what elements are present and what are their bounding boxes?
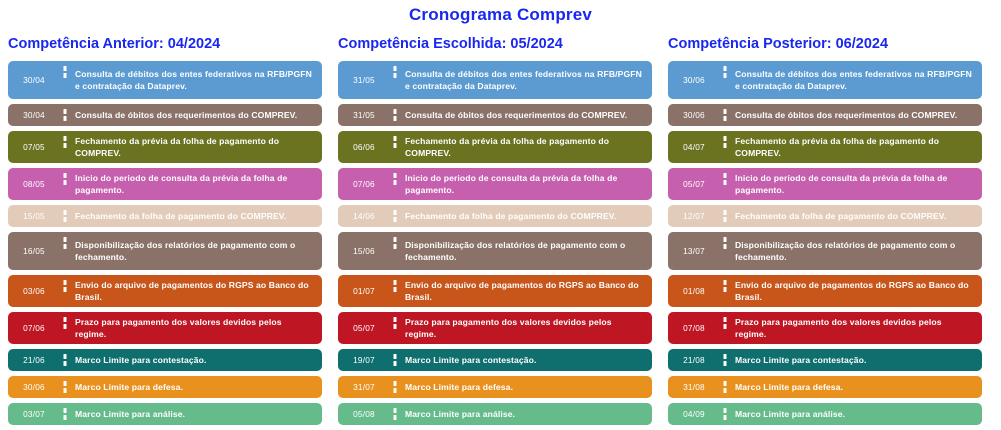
event-marker-icon (390, 131, 399, 163)
event-marker-icon (390, 205, 399, 227)
timeline-event-row[interactable]: 16/05Disponibilização dos relatórios de … (8, 232, 322, 270)
event-marker-icon (390, 61, 399, 99)
event-date: 12/07 (668, 205, 720, 227)
event-marker-icon (390, 232, 399, 270)
timeline-event-row[interactable]: 30/06Consulta de óbitos dos requerimento… (668, 104, 982, 126)
event-date: 31/05 (338, 61, 390, 99)
event-date: 30/04 (8, 61, 60, 99)
event-marker-icon (60, 61, 69, 99)
event-marker-icon (60, 168, 69, 200)
event-date: 04/07 (668, 131, 720, 163)
event-date: 08/05 (8, 168, 60, 200)
event-marker-icon (60, 312, 69, 344)
timeline-event-row[interactable]: 05/08Marco Limite para análise. (338, 403, 652, 425)
event-date: 07/08 (668, 312, 720, 344)
event-marker-icon (720, 232, 729, 270)
timeline-event-row[interactable]: 30/04Consulta de óbitos dos requerimento… (8, 104, 322, 126)
timeline-list-posterior: 30/06Consulta de débitos dos entes feder… (668, 61, 982, 430)
event-date: 05/08 (338, 403, 390, 425)
event-description: Marco Limite para defesa. (69, 376, 322, 398)
timeline-event-row[interactable]: 12/07Fechamento da folha de pagamento do… (668, 205, 982, 227)
event-description: Marco Limite para análise. (729, 403, 982, 425)
event-marker-icon (390, 349, 399, 371)
event-marker-icon (60, 131, 69, 163)
event-marker-icon (60, 232, 69, 270)
event-date: 07/06 (338, 168, 390, 200)
timeline-list-anterior: 30/04Consulta de débitos dos entes feder… (8, 61, 322, 430)
event-description: Marco Limite para contestação. (729, 349, 982, 371)
event-description: Fechamento da folha de pagamento do COMP… (399, 205, 652, 227)
event-marker-icon (720, 312, 729, 344)
event-description: Consulta de óbitos dos requerimentos do … (729, 104, 982, 126)
event-date: 14/06 (338, 205, 390, 227)
event-marker-icon (60, 275, 69, 307)
timeline-event-row[interactable]: 30/04Consulta de débitos dos entes feder… (8, 61, 322, 99)
event-date: 21/06 (8, 349, 60, 371)
event-date: 05/07 (668, 168, 720, 200)
event-marker-icon (720, 131, 729, 163)
event-date: 15/05 (8, 205, 60, 227)
timeline-event-row[interactable]: 07/08Prazo para pagamento dos valores de… (668, 312, 982, 344)
event-description: Prazo para pagamento dos valores devidos… (399, 312, 652, 344)
event-description: Consulta de débitos dos entes federativo… (399, 61, 652, 99)
event-description: Marco Limite para contestação. (399, 349, 652, 371)
timeline-event-row[interactable]: 03/06Envio do arquivo de pagamentos do R… (8, 275, 322, 307)
event-description: Envio do arquivo de pagamentos do RGPS a… (399, 275, 652, 307)
timeline-event-row[interactable]: 04/07Fechamento da prévia da folha de pa… (668, 131, 982, 163)
event-date: 30/06 (668, 104, 720, 126)
event-date: 03/07 (8, 403, 60, 425)
event-description: Fechamento da prévia da folha de pagamen… (399, 131, 652, 163)
timeline-event-row[interactable]: 06/06Fechamento da prévia da folha de pa… (338, 131, 652, 163)
event-date: 13/07 (668, 232, 720, 270)
timeline-column-escolhida: Competência Escolhida: 05/2024 31/05Cons… (338, 35, 652, 430)
event-description: Consulta de óbitos dos requerimentos do … (399, 104, 652, 126)
event-marker-icon (60, 104, 69, 126)
timeline-event-row[interactable]: 04/09Marco Limite para análise. (668, 403, 982, 425)
timeline-event-row[interactable]: 05/07Inicio do período de consulta da pr… (668, 168, 982, 200)
timeline-column-anterior: Competência Anterior: 04/2024 30/04Consu… (8, 35, 322, 430)
cronograma-page: Cronograma Comprev Competência Anterior:… (0, 0, 1001, 415)
event-description: Envio do arquivo de pagamentos do RGPS a… (69, 275, 322, 307)
event-date: 19/07 (338, 349, 390, 371)
event-description: Inicio do período de consulta da prévia … (729, 168, 982, 200)
event-date: 31/08 (668, 376, 720, 398)
event-description: Marco Limite para contestação. (69, 349, 322, 371)
timeline-event-row[interactable]: 21/06Marco Limite para contestação. (8, 349, 322, 371)
event-description: Inicio do periodo de consulta da prévia … (69, 168, 322, 200)
event-description: Marco Limite para defesa. (399, 376, 652, 398)
event-description: Marco Limite para análise. (69, 403, 322, 425)
timeline-event-row[interactable]: 30/06Marco Limite para defesa. (8, 376, 322, 398)
event-date: 15/06 (338, 232, 390, 270)
timeline-event-row[interactable]: 31/05Consulta de débitos dos entes feder… (338, 61, 652, 99)
timeline-event-row[interactable]: 31/05Consulta de óbitos dos requerimento… (338, 104, 652, 126)
timeline-event-row[interactable]: 14/06Fechamento da folha de pagamento do… (338, 205, 652, 227)
timeline-event-row[interactable]: 31/07Marco Limite para defesa. (338, 376, 652, 398)
event-marker-icon (390, 376, 399, 398)
event-date: 07/06 (8, 312, 60, 344)
event-description: Marco Limite para defesa. (729, 376, 982, 398)
event-marker-icon (720, 275, 729, 307)
timeline-event-row[interactable]: 03/07Marco Limite para análise. (8, 403, 322, 425)
event-marker-icon (60, 349, 69, 371)
event-date: 16/05 (8, 232, 60, 270)
event-marker-icon (390, 104, 399, 126)
timeline-event-row[interactable]: 08/05Inicio do periodo de consulta da pr… (8, 168, 322, 200)
event-marker-icon (720, 61, 729, 99)
event-description: Prazo para pagamento dos valores devidos… (69, 312, 322, 344)
event-marker-icon (720, 168, 729, 200)
timeline-list-escolhida: 31/05Consulta de débitos dos entes feder… (338, 61, 652, 430)
timeline-event-row[interactable]: 05/07Prazo para pagamento dos valores de… (338, 312, 652, 344)
timeline-event-row[interactable]: 13/07Disponibilização dos relatórios de … (668, 232, 982, 270)
event-date: 31/05 (338, 104, 390, 126)
event-date: 01/07 (338, 275, 390, 307)
event-marker-icon (390, 168, 399, 200)
event-date: 21/08 (668, 349, 720, 371)
event-description: Fechamento da folha de pagamento do COMP… (69, 205, 322, 227)
column-title-anterior: Competência Anterior: 04/2024 (8, 35, 322, 53)
timeline-event-row[interactable]: 07/06Prazo para pagamento dos valores de… (8, 312, 322, 344)
event-date: 03/06 (8, 275, 60, 307)
event-marker-icon (60, 403, 69, 425)
event-marker-icon (60, 205, 69, 227)
event-marker-icon (720, 349, 729, 371)
event-description: Inicio do periodo de consulta da prévia … (399, 168, 652, 200)
timeline-columns: Competência Anterior: 04/2024 30/04Consu… (0, 35, 1001, 430)
timeline-event-row[interactable]: 07/06Inicio do periodo de consulta da pr… (338, 168, 652, 200)
event-description: Marco Limite para análise. (399, 403, 652, 425)
event-description: Prazo para pagamento dos valores devidos… (729, 312, 982, 344)
timeline-event-row[interactable]: 01/08Envio do arquivo de pagamentos do R… (668, 275, 982, 307)
column-title-escolhida: Competência Escolhida: 05/2024 (338, 35, 652, 53)
event-marker-icon (720, 205, 729, 227)
event-description: Disponibilização dos relatórios de pagam… (729, 232, 982, 270)
event-marker-icon (720, 104, 729, 126)
event-description: Consulta de débitos dos entes federativo… (729, 61, 982, 99)
timeline-event-row[interactable]: 31/08Marco Limite para defesa. (668, 376, 982, 398)
event-date: 30/04 (8, 104, 60, 126)
event-description: Fechamento da prévia da folha de pagamen… (729, 131, 982, 163)
event-date: 06/06 (338, 131, 390, 163)
event-marker-icon (60, 376, 69, 398)
event-marker-icon (720, 376, 729, 398)
timeline-column-posterior: Competência Posterior: 06/2024 30/06Cons… (668, 35, 982, 430)
event-marker-icon (390, 275, 399, 307)
timeline-event-row[interactable]: 19/07Marco Limite para contestação. (338, 349, 652, 371)
event-description: Fechamento da folha de pagamento do COMP… (729, 205, 982, 227)
event-date: 31/07 (338, 376, 390, 398)
event-marker-icon (720, 403, 729, 425)
event-description: Disponibilização dos relatórios de pagam… (399, 232, 652, 270)
timeline-event-row[interactable]: 30/06Consulta de débitos dos entes feder… (668, 61, 982, 99)
event-description: Consulta de óbitos dos requerimentos do … (69, 104, 322, 126)
event-description: Disponibilização dos relatórios de pagam… (69, 232, 322, 270)
timeline-event-row[interactable]: 15/05Fechamento da folha de pagamento do… (8, 205, 322, 227)
timeline-event-row[interactable]: 15/06Disponibilização dos relatórios de … (338, 232, 652, 270)
event-description: Envio do arquivo de pagamentos do RGPS a… (729, 275, 982, 307)
event-date: 30/06 (8, 376, 60, 398)
event-marker-icon (390, 312, 399, 344)
page-title: Cronograma Comprev (0, 0, 1001, 26)
event-description: Consulta de débitos dos entes federativo… (69, 61, 322, 99)
event-marker-icon (390, 403, 399, 425)
timeline-event-row[interactable]: 01/07Envio do arquivo de pagamentos do R… (338, 275, 652, 307)
event-date: 01/08 (668, 275, 720, 307)
event-date: 04/09 (668, 403, 720, 425)
event-date: 07/05 (8, 131, 60, 163)
event-date: 05/07 (338, 312, 390, 344)
column-title-posterior: Competência Posterior: 06/2024 (668, 35, 982, 53)
event-description: Fechamento da prévia da folha de pagamen… (69, 131, 322, 163)
timeline-event-row[interactable]: 07/05Fechamento da prévia da folha de pa… (8, 131, 322, 163)
event-date: 30/06 (668, 61, 720, 99)
timeline-event-row[interactable]: 21/08Marco Limite para contestação. (668, 349, 982, 371)
